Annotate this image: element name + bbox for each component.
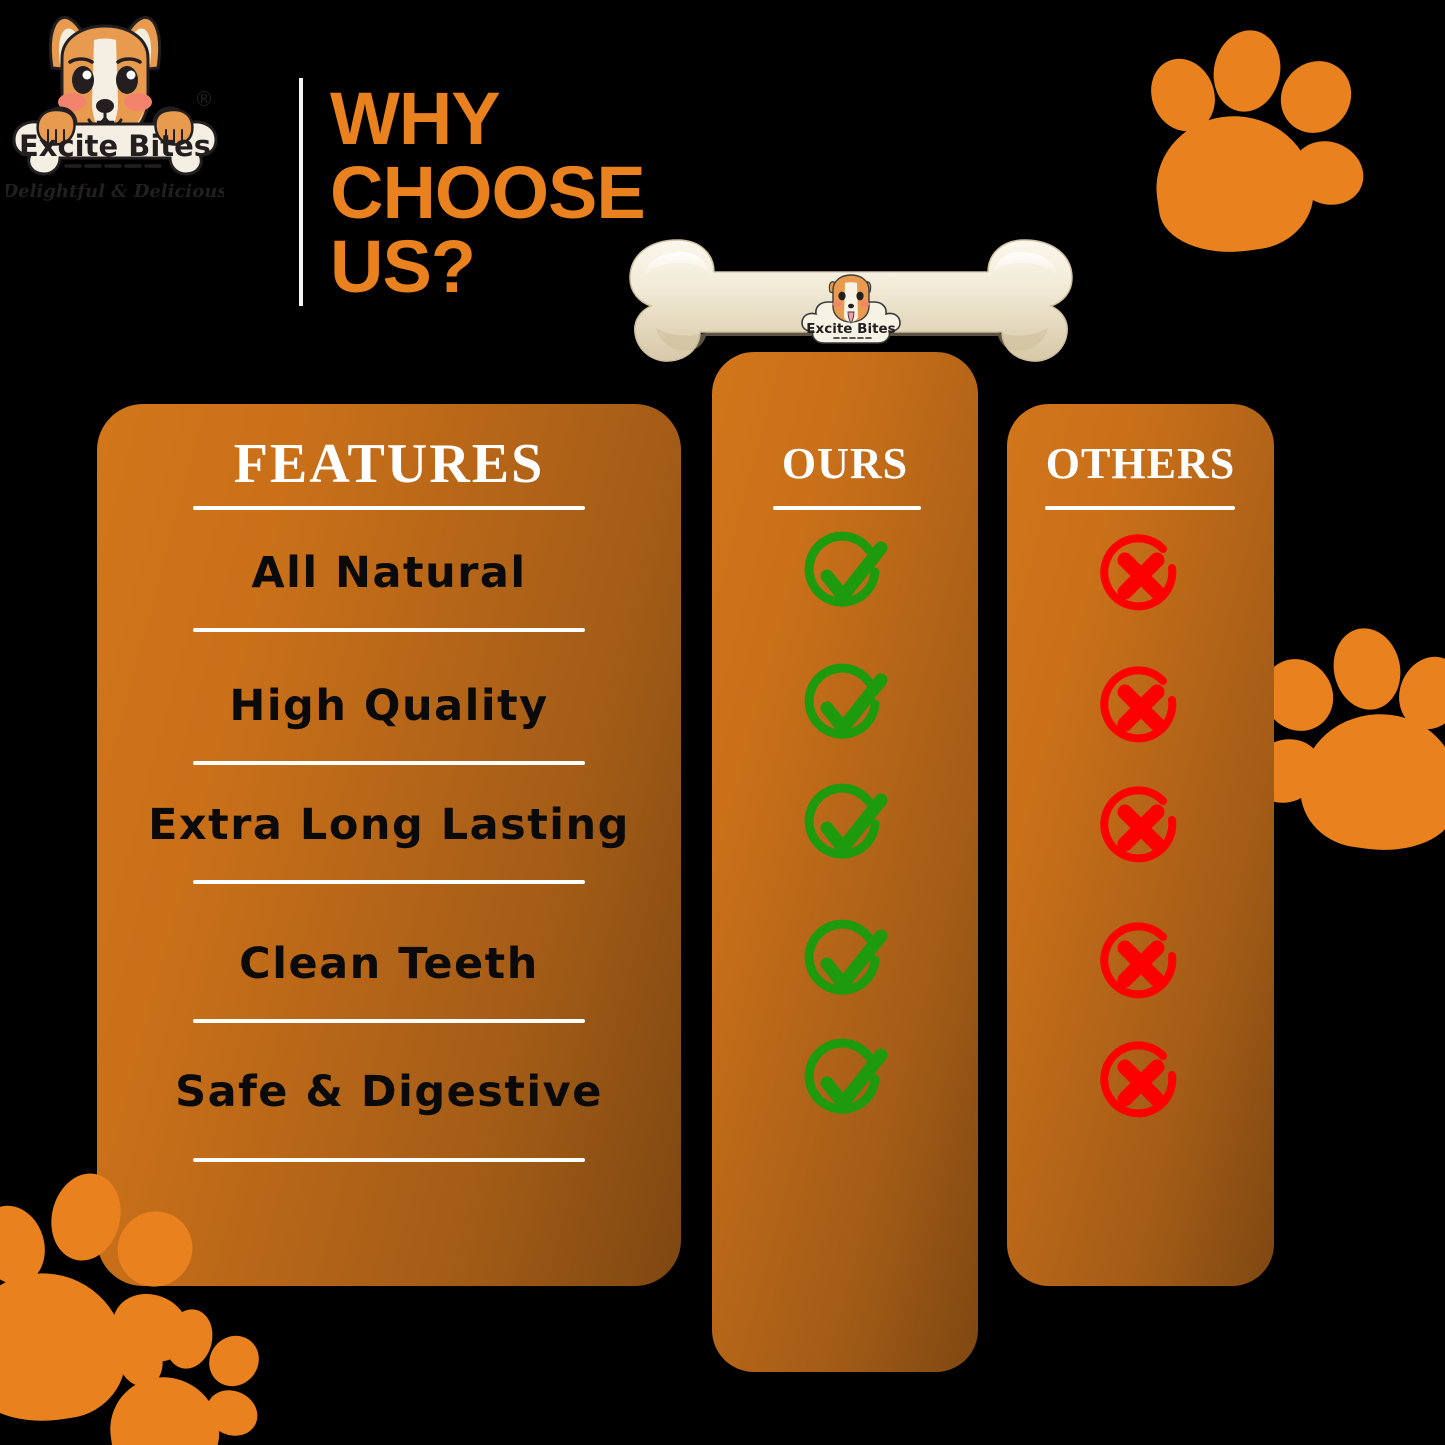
logo-tagline: Delightful & Delicious [6, 181, 224, 202]
ours-check-icon-row-5 [797, 1035, 893, 1131]
feature-rule-2 [193, 761, 585, 765]
excite-bites-logo: Excite Bites Delightful & Delicious ® [6, 6, 224, 218]
feature-label-row-5: Safe & Digestive [97, 1067, 681, 1117]
feature-label-row-4: Clean Teeth [97, 939, 681, 989]
feature-rule-5 [193, 1158, 585, 1162]
others-cross-icon-row-4 [1093, 916, 1189, 1012]
others-cross-icon-row-2 [1093, 660, 1189, 756]
ours-check-icon-row-4 [797, 916, 893, 1012]
registered-trademark-icon: ® [194, 87, 214, 111]
page-title-line-1: WHY [330, 82, 730, 156]
column-header-others: OTHERS [1007, 438, 1274, 489]
feature-label-row-3: Extra Long Lasting [97, 800, 681, 850]
column-header-others-rule [1045, 506, 1235, 510]
feature-label-row-1: All Natural [97, 548, 681, 598]
feature-rule-3 [193, 880, 585, 884]
dog-bone-product-image: Excite Bites [620, 232, 1082, 392]
paw-print-icon-top-right [1152, 22, 1357, 232]
column-header-ours: OURS [712, 438, 978, 489]
logo-brand-name: Excite Bites [19, 129, 211, 163]
feature-rule-4 [193, 1019, 585, 1023]
others-cross-icon-row-1 [1093, 528, 1189, 624]
page-title-line-2: CHOOSE [330, 156, 730, 230]
dog-bone-chew-treat-icon: Excite Bites [620, 232, 1082, 392]
column-header-ours-rule [773, 506, 921, 510]
feature-rule-1 [193, 628, 585, 632]
feature-label-row-2: High Quality [97, 681, 681, 731]
others-cross-icon-row-3 [1093, 780, 1189, 876]
corgi-dog-with-bone-logo-icon: Excite Bites Delightful & Delicious ® [6, 6, 224, 218]
ours-check-icon-row-1 [797, 528, 893, 624]
infographic-canvas: Excite Bites Delightful & Delicious ® WH… [0, 0, 1445, 1445]
others-cross-icon-row-5 [1093, 1035, 1189, 1131]
heading-divider-rule [299, 78, 303, 306]
column-header-features: FEATURES [97, 432, 681, 496]
paw-print-icon-right [1262, 620, 1445, 830]
ours-check-icon-row-3 [797, 780, 893, 876]
column-header-features-rule [193, 506, 585, 510]
bone-sticker-label: Excite Bites [806, 321, 895, 337]
ours-check-icon-row-2 [797, 660, 893, 756]
paw-print-icon-bottom-left-small [118, 1305, 258, 1445]
